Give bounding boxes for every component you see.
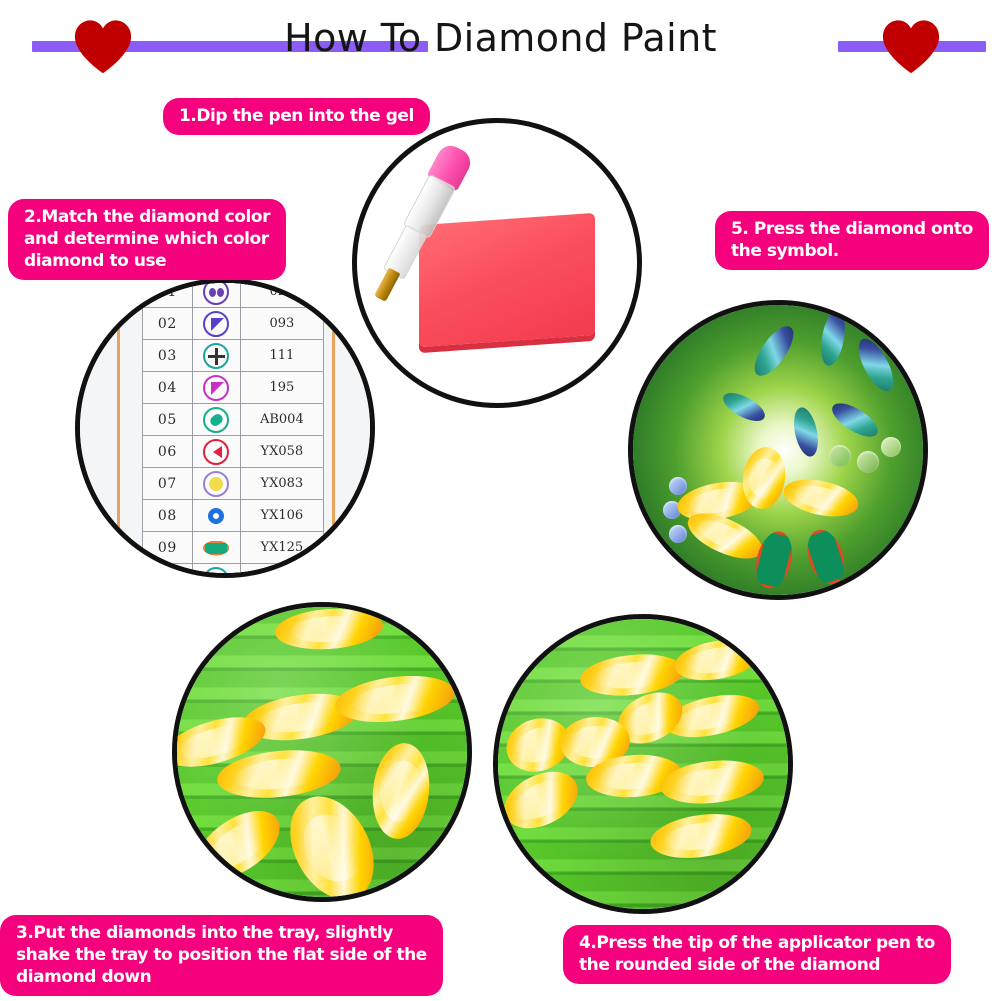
cell-symbol [192,468,240,500]
step-2-line-3: diamond to use [24,250,270,272]
cell-code: 028 [240,278,323,308]
cell-symbol [192,308,240,340]
cell-code: YX106 [240,500,323,532]
color-symbol-table: 0102802093031110419505AB00406YX05807YX08… [142,278,324,578]
table-row: 08YX106 [143,500,324,532]
symbol-plus-cross [203,343,229,369]
step-5-photo [628,300,928,600]
step-4-line-1: 4.Press the tip of the applicator pen to [579,932,935,954]
table-row: 09YX125 [143,532,324,564]
table-row: 02093 [143,308,324,340]
step-5-line-1: 5. Press the diamond onto [731,218,973,240]
canvas-dot [881,437,901,457]
cell-code: YX125 [240,532,323,564]
step-3-photo [172,602,472,902]
symbol-open-ring [203,503,229,529]
step-3-line-3: diamond down [16,966,427,988]
scene-press-onto-symbol [633,305,923,595]
cell-symbol [192,564,240,579]
cell-code: 093 [240,308,323,340]
symbol-slanted-capsule [203,407,229,433]
symbol-left-chevron [203,439,229,465]
step-1-label: 1.Dip the pen into the gel [163,98,430,135]
canvas-dot [669,525,687,543]
step-4-label: 4.Press the tip of the applicator pen to… [563,925,951,984]
table-row: 07YX083 [143,468,324,500]
cell-number: 01 [143,278,193,308]
table-row: 03111 [143,340,324,372]
cell-symbol [192,340,240,372]
cell-code: YX083 [240,468,323,500]
cell-number: 04 [143,372,193,404]
step-2-line-2: and determine which color [24,228,270,250]
symbol-teal-dot [203,567,229,579]
cell-code [240,564,323,579]
step-3-label: 3.Put the diamonds into the tray, slight… [0,915,443,996]
step-2-label: 2.Match the diamond color and determine … [8,199,286,280]
canvas-dot [669,477,687,495]
cell-number: 08 [143,500,193,532]
step-5-label: 5. Press the diamond onto the symbol. [715,211,989,270]
chart-margin-stripe [332,283,335,573]
table-row: 10 [143,564,324,579]
scene-pen-picks-diamond [498,619,788,909]
step-4-photo [493,614,793,914]
step-1-line-1: 1.Dip the pen into the gel [179,105,414,127]
symbol-filled-dot-ring [203,471,229,497]
pen-brass-tip [374,268,401,302]
step-2-photo: 0102802093031110419505AB00406YX05807YX08… [75,278,375,578]
symbol-leaf-lens [203,535,229,561]
table-row: 01028 [143,278,324,308]
gel-pad [419,213,595,347]
page-title: How To Diamond Paint [0,16,1001,60]
table-row: 04195 [143,372,324,404]
cell-code: 195 [240,372,323,404]
cell-number: 07 [143,468,193,500]
cell-symbol [192,278,240,308]
canvas-dot [857,451,879,473]
infographic-page: How To Diamond Paint 1.Dip the pen into … [0,0,1001,1001]
symbol-triangle-quarter [203,375,229,401]
cell-number: 10 [143,564,193,579]
step-2-line-1: 2.Match the diamond color [24,206,270,228]
symbol-triangle-quarter [203,311,229,337]
cell-number: 06 [143,436,193,468]
step-4-line-2: the rounded side of the diamond [579,954,935,976]
table-row: 06YX058 [143,436,324,468]
scene-pen-in-gel [357,123,637,403]
cell-number: 05 [143,404,193,436]
scene-diamonds-in-tray [177,607,467,897]
step-1-photo [352,118,642,408]
table-row: 05AB004 [143,404,324,436]
cell-symbol [192,532,240,564]
canvas-dot [829,445,851,467]
cell-number: 02 [143,308,193,340]
cell-code: AB004 [240,404,323,436]
cell-symbol [192,436,240,468]
step-5-line-2: the symbol. [731,240,973,262]
header: How To Diamond Paint [0,0,1001,92]
cell-code: YX058 [240,436,323,468]
symbol-double-dot-circle [203,279,229,305]
cell-symbol [192,372,240,404]
cell-number: 09 [143,532,193,564]
cell-symbol [192,500,240,532]
cell-symbol [192,404,240,436]
step-3-line-1: 3.Put the diamonds into the tray, slight… [16,922,427,944]
cell-number: 03 [143,340,193,372]
step-3-line-2: shake the tray to position the flat side… [16,944,427,966]
scene-color-chart: 0102802093031110419505AB00406YX05807YX08… [80,283,370,573]
cell-code: 111 [240,340,323,372]
chart-margin-stripe [117,283,120,573]
